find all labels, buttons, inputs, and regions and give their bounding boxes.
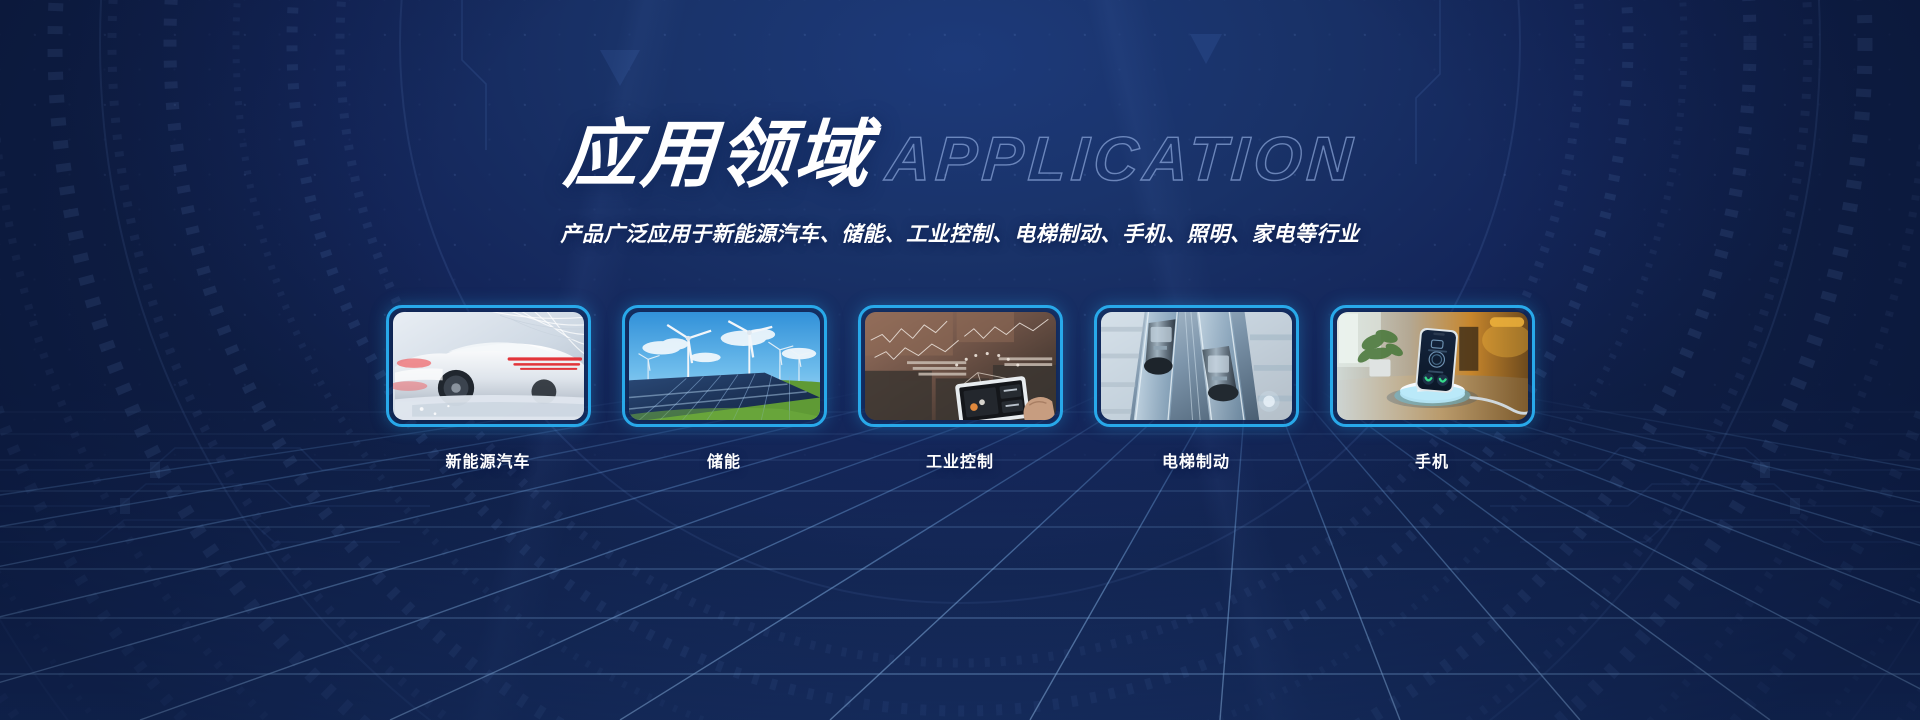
card-frame[interactable]	[1094, 305, 1299, 427]
application-card[interactable]: 新能源汽车	[386, 305, 591, 472]
card-frame[interactable]	[858, 305, 1063, 427]
card-label: 新能源汽车	[445, 448, 530, 472]
application-card[interactable]: 储能	[622, 305, 827, 472]
card-label: 电梯制动	[1162, 448, 1230, 472]
energy-storage-thumb	[629, 312, 820, 420]
application-card[interactable]: 电梯制动	[1094, 305, 1299, 472]
card-label: 工业控制	[926, 448, 994, 472]
card-frame[interactable]	[386, 305, 591, 427]
application-card[interactable]: 工业控制	[858, 305, 1063, 472]
application-banner: 应用领域 APPLICATION 产品广泛应用于新能源汽车、储能、工业控制、电梯…	[0, 0, 1920, 720]
application-card[interactable]: 手机	[1330, 305, 1535, 472]
page-title-english: APPLICATION	[884, 129, 1359, 191]
card-label: 手机	[1415, 448, 1449, 472]
title-row: 应用领域 APPLICATION	[0, 118, 1920, 192]
card-frame[interactable]	[1330, 305, 1535, 427]
application-card-list: 新能源汽车	[0, 305, 1920, 472]
page-subtitle: 产品广泛应用于新能源汽车、储能、工业控制、电梯制动、手机、照明、家电等行业	[0, 218, 1920, 248]
elevator-braking-thumb	[1101, 312, 1292, 420]
mobile-phone-thumb	[1337, 312, 1528, 420]
industrial-control-thumb	[865, 312, 1056, 420]
banner-header: 应用领域 APPLICATION 产品广泛应用于新能源汽车、储能、工业控制、电梯…	[0, 118, 1920, 248]
new-energy-vehicle-thumb	[393, 312, 584, 420]
card-frame[interactable]	[622, 305, 827, 427]
card-label: 储能	[707, 448, 741, 472]
page-title: 应用领域	[561, 118, 874, 192]
